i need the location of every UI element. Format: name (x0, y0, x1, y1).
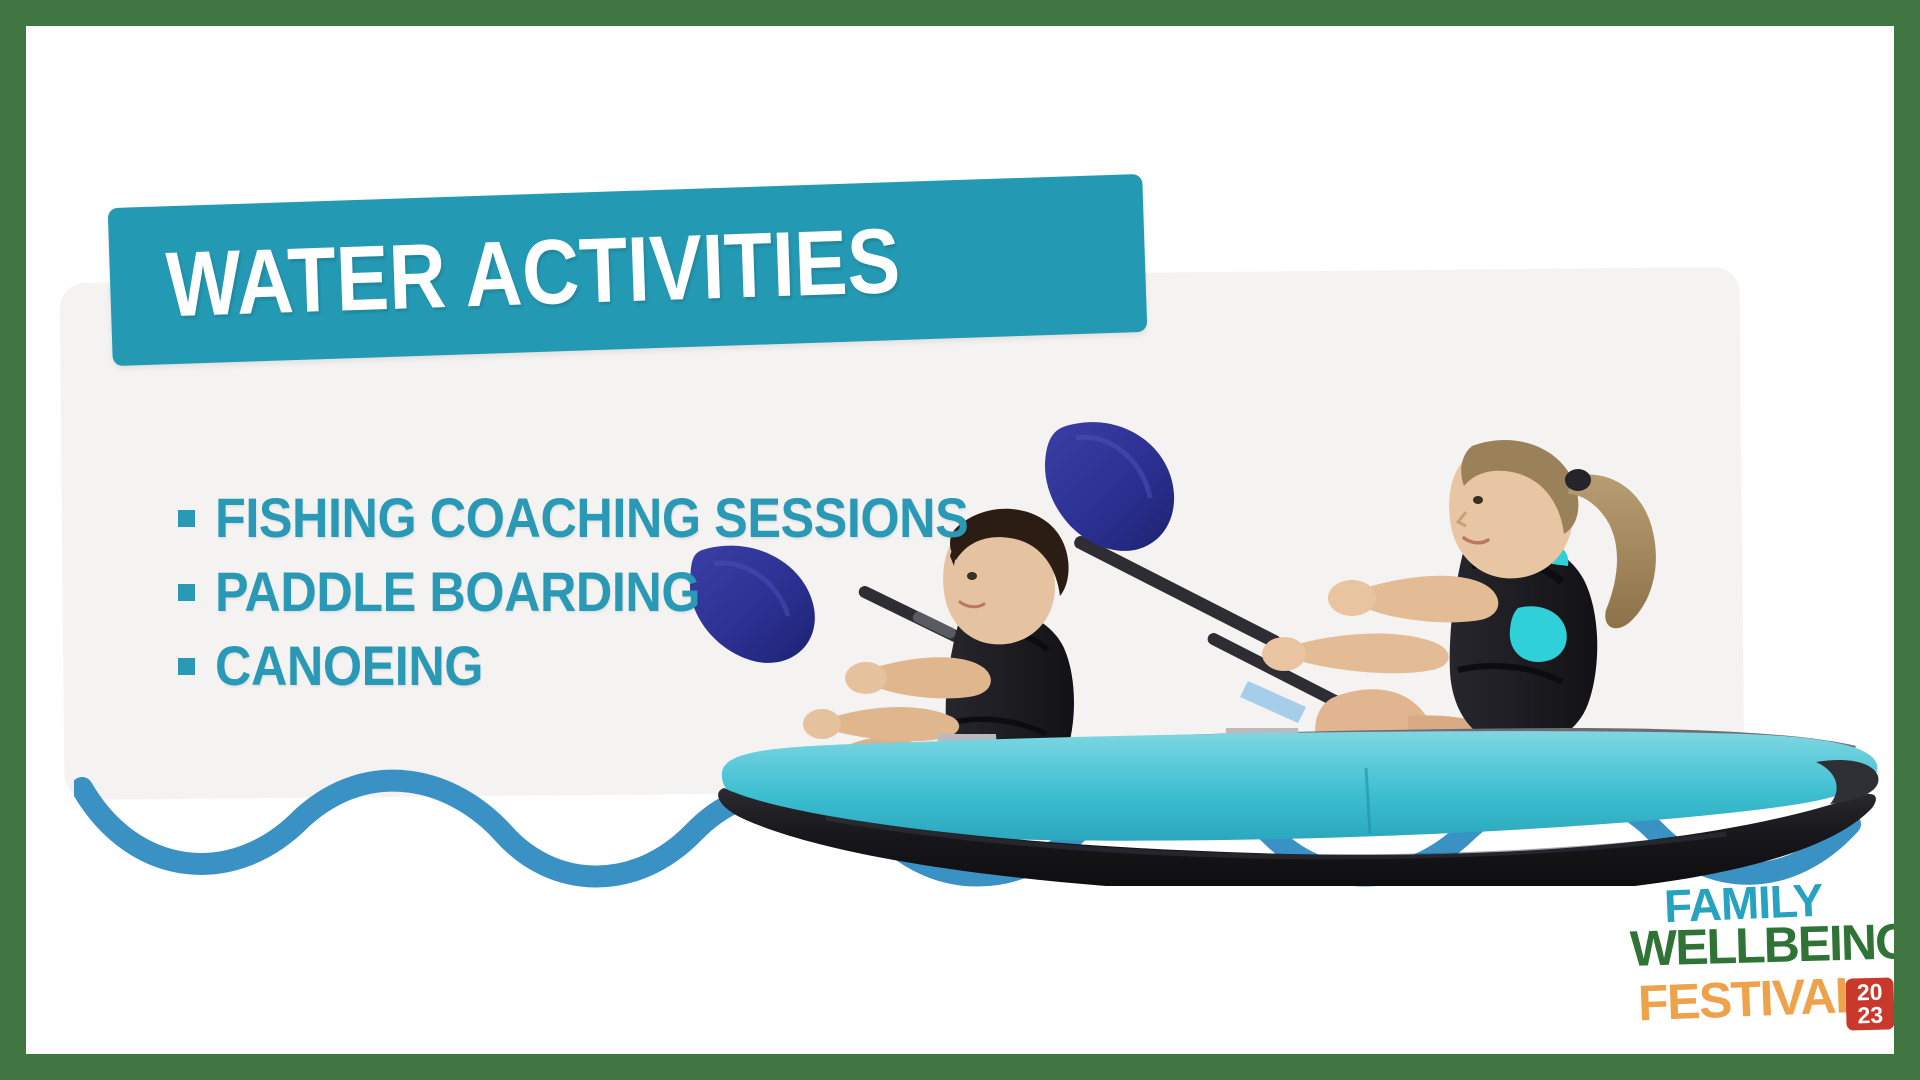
list-item: FISHING COACHING SESSIONS (178, 481, 1078, 555)
list-item: PADDLE BOARDING (178, 555, 1078, 629)
bullet-square-icon (178, 658, 195, 675)
bullet-square-icon (178, 584, 195, 601)
logo-line-festival: FESTIVAL (1637, 970, 1865, 1029)
list-item-label: FISHING COACHING SESSIONS (215, 490, 968, 546)
logo-year-badge: 20 23 (1845, 977, 1894, 1030)
family-wellbeing-festival-logo: FAMILY WELLBEING FESTIVAL 20 23 (1630, 878, 1894, 1050)
list-item-label: PADDLE BOARDING (215, 564, 700, 620)
activities-list: FISHING COACHING SESSIONS PADDLE BOARDIN… (178, 481, 1078, 703)
logo-year-top: 20 (1857, 980, 1883, 1004)
bullet-square-icon (178, 510, 195, 527)
list-item-label: CANOEING (215, 638, 483, 694)
logo-line-wellbeing: WELLBEING (1629, 916, 1894, 974)
page-title: WATER ACTIVITIES (165, 215, 902, 331)
slide-frame: WATER ACTIVITIES FISHING COACHING SESSIO… (0, 0, 1920, 1080)
logo-year-bottom: 23 (1857, 1004, 1883, 1028)
slide-canvas: WATER ACTIVITIES FISHING COACHING SESSIO… (26, 26, 1894, 1054)
list-item: CANOEING (178, 629, 1078, 703)
